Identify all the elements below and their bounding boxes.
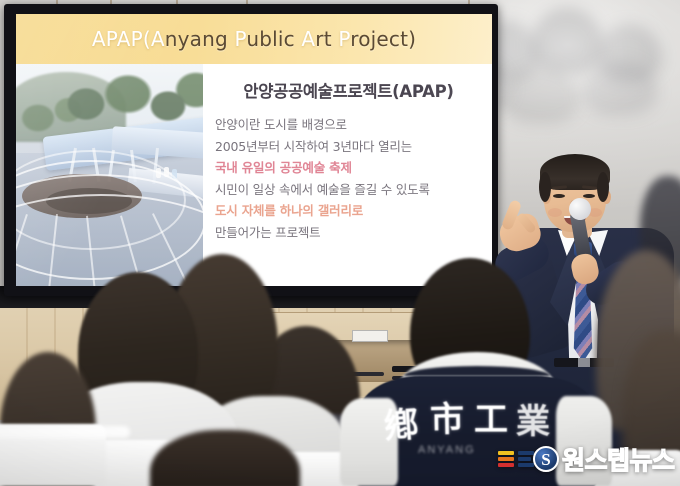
slide-title: APAP(Anyang Public Art Project)	[92, 27, 416, 51]
slide-body-line: 2005년부터 시작하여 3년마다 열리는	[215, 136, 482, 158]
logo-bar-yellow	[498, 451, 514, 455]
slide-body-line: 안양이란 도시를 배경으로	[215, 114, 482, 136]
jacket-character: 鄕	[382, 397, 419, 448]
slide-body-line: 시민이 일상 속에서 예술을 즐길 수 있도록	[215, 179, 482, 201]
logo-bar-orange	[498, 457, 514, 461]
slide-title-seg: rt	[315, 27, 338, 51]
slide-title-seg: roject)	[350, 27, 416, 51]
presentation-slide: APAP(Anyang Public Art Project)	[16, 14, 492, 286]
jacket-character: 工	[474, 392, 508, 441]
logo-emblem-letter: S	[541, 451, 550, 468]
cabinet-label-card	[352, 330, 388, 342]
speaker-hair	[539, 172, 551, 202]
slide-body-line-accent: 국내 유일의 공공예술 축제	[215, 157, 482, 179]
logo-bar-red	[498, 463, 514, 467]
slide-title-band: APAP(Anyang Public Art Project)	[16, 14, 492, 64]
speaker-cheek	[548, 208, 562, 217]
logo-brand-text: 원스텝뉴스	[562, 441, 675, 477]
slide-text-column: 안양공공예술프로젝트(APAP) 안양이란 도시를 배경으로 2005년부터 시…	[203, 64, 492, 286]
logo-s-emblem: S	[533, 446, 559, 472]
jacket-character: 業	[516, 394, 550, 443]
slide-body-line-accent: 도시 자체를 하나의 갤러리로	[215, 200, 482, 222]
slide-photo-anyang-art-park	[16, 64, 203, 286]
logo-bar-navy	[518, 457, 531, 461]
slide-title-seg: A	[301, 27, 315, 51]
slide-title-seg: P	[234, 27, 246, 51]
slide-title-seg: ublic	[246, 27, 301, 51]
speaker-belt-buckle	[578, 358, 590, 367]
projection-screen: APAP(Anyang Public Art Project)	[16, 14, 492, 286]
slide-heading: 안양공공예술프로젝트(APAP)	[215, 78, 482, 102]
jacket-subtext: ANYANG	[418, 444, 476, 456]
slide-title-seg: APAP(	[92, 27, 151, 51]
speaker-eye	[583, 194, 595, 198]
logo-bar-navy	[518, 451, 534, 455]
slide-title-seg: A	[151, 27, 165, 51]
speaker-hair	[597, 172, 609, 202]
projection-screen-frame: APAP(Anyang Public Art Project)	[4, 4, 498, 296]
jacket-character: 市	[430, 392, 465, 442]
slide-title-seg: P	[338, 27, 350, 51]
logo-color-bars	[498, 451, 514, 467]
slide-title-seg: nyang	[165, 27, 235, 51]
slide-body-line: 만들어가는 프로젝트	[215, 222, 482, 244]
photo-projection-wash	[16, 64, 203, 286]
logo-bar-navy	[518, 463, 534, 467]
chair-backrest-edge	[0, 426, 130, 438]
logo-dark-bars	[518, 451, 534, 467]
speaker-eye	[553, 194, 565, 198]
photo-canvas: APAP(Anyang Public Art Project)	[0, 0, 680, 486]
watermark-logo: S 원스텝뉴스	[498, 442, 675, 476]
